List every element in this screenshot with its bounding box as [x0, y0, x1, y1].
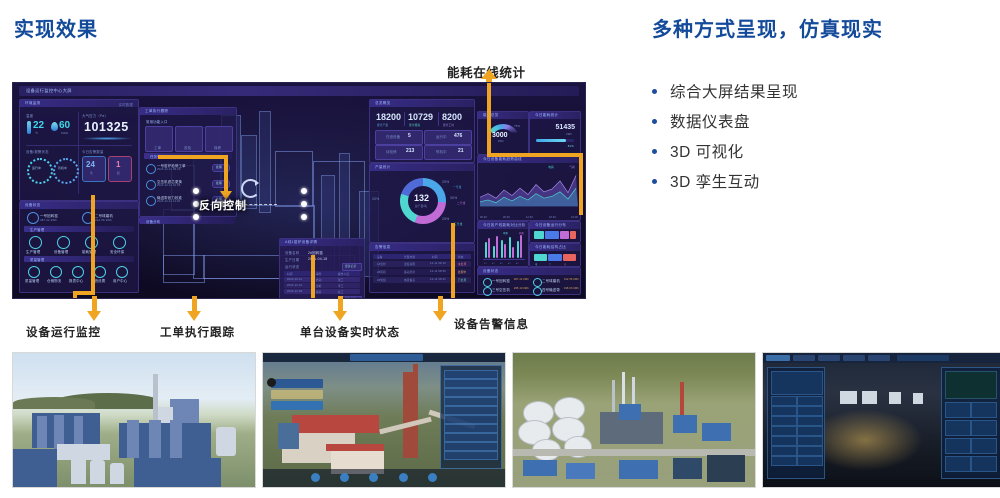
- photo4-map: [945, 371, 997, 399]
- panel-kpi: 总览概览 18200 累计产量 10729 累计能耗 8200 累计工时 在役设…: [369, 99, 475, 163]
- panel-device-list: 设备状态 一号回转窑 487.22 kWh 二号球磨机 312.56 kWh 三…: [477, 267, 581, 295]
- photo2-panel-row: [444, 424, 498, 433]
- device-value: 312.56 kWh: [564, 278, 579, 281]
- module-icon: [57, 236, 70, 249]
- panel-header: 今日设备能耗趋势曲线: [478, 156, 580, 163]
- photo4-card: [797, 396, 823, 406]
- callout-stem: [438, 296, 443, 312]
- x-tick: 12:00: [526, 216, 533, 219]
- slide-root: 实现效果 多种方式呈现，仿真现实 综合大屏结果呈现 数据仪表盘 3D 可视化 3…: [0, 0, 1000, 498]
- alarm-count-a-value: 24: [86, 160, 95, 169]
- photo2-unit: [278, 423, 300, 450]
- dashboard-title: 设备运行监控中心大屏: [26, 88, 72, 94]
- page-title-right: 多种方式呈现，仿真现实: [652, 13, 883, 42]
- panel-header: 设备状态: [478, 268, 580, 275]
- quick-tile-label: 巡检: [184, 145, 191, 150]
- panel-header: 能耗总览: [478, 112, 528, 119]
- bar: [509, 237, 511, 258]
- connector-energy-h: [487, 153, 583, 157]
- photo3-unit: [523, 460, 557, 476]
- section-title: 质量管理: [30, 257, 44, 262]
- gauge-value: 3000: [492, 132, 508, 139]
- popup-row-key: 生产日期: [285, 257, 299, 262]
- connector-workorder-v: [224, 155, 228, 193]
- alarm-head-cell: 告警内容: [404, 255, 415, 259]
- device-value: 487.22 kWh: [514, 278, 529, 281]
- callout-arrow-icon: [87, 311, 101, 321]
- x-tick: 1#: [484, 263, 487, 265]
- alarm-head-cell: 设备: [377, 255, 383, 259]
- gauge-unit: kWh: [498, 140, 504, 143]
- module-icon: [113, 236, 126, 249]
- photo1-silo: [110, 463, 125, 484]
- photo2-panel-row: [444, 388, 498, 397]
- selection-node[interactable]: [301, 188, 307, 194]
- temp-label: 温度: [26, 113, 33, 118]
- callout-stem: [92, 296, 97, 312]
- callout-arrow-icon: [433, 311, 447, 321]
- panel-header: 今日各产线能耗对比分析: [478, 222, 528, 229]
- legend-item: 气耗: [569, 165, 575, 169]
- panel-header: 今日能耗统计: [530, 112, 580, 119]
- table-cell: 2023-12-11: [287, 278, 302, 281]
- kpi-tile-value: 21: [458, 148, 464, 154]
- bullet-dot-icon: [652, 149, 657, 154]
- device-name: 四号输送带: [542, 287, 560, 292]
- dashboard-screenshot: 设备运行监控中心大屏 环境监测 实时数据 温度 大气压力（: [12, 82, 586, 299]
- donut-slice-pct: 25%: [442, 217, 449, 221]
- photo4-window: [889, 392, 901, 404]
- connector-workorder-h: [158, 155, 228, 159]
- panel-title: 总览概览: [375, 101, 391, 106]
- panel-title: A线1窑炉设备详情: [285, 240, 317, 245]
- humidity-icon: [51, 122, 58, 131]
- module-label: 报表中心: [69, 278, 83, 283]
- x-tick: 4#: [508, 263, 511, 265]
- panel-title: 今日设备能耗趋势曲线: [483, 157, 522, 162]
- task-icon: [146, 164, 156, 174]
- device-name: 一号回转窑: [492, 278, 510, 283]
- photo-night-interior-ui[interactable]: [762, 352, 1000, 488]
- x-tick: 5#: [516, 263, 519, 265]
- task-time: 2023-12-11 09:20: [157, 168, 181, 171]
- list-item: 数据仪表盘: [652, 106, 982, 136]
- callout-label: 设备告警信息: [454, 316, 529, 332]
- connector-alarm-v: [451, 223, 455, 299]
- donut-slice-label: 二号线: [457, 201, 465, 205]
- device-status-icon: [483, 278, 492, 287]
- module-icon: [50, 266, 62, 278]
- photo4-window: [862, 391, 877, 404]
- panel-modules: 设备状态 一号回转窑 487.22 kWh 二号球磨机 312.56 kWh 生…: [19, 201, 139, 293]
- photo3-unit: [619, 404, 641, 420]
- photo-refinery-aerial[interactable]: [512, 352, 756, 488]
- table-cell: 赵工: [338, 290, 344, 294]
- photo4-tab[interactable]: [843, 355, 865, 361]
- module-icon: [28, 266, 40, 278]
- panel-stack-b: 今日能耗结构占比 电 气 水: [529, 243, 581, 267]
- temp-unit: ℃: [35, 131, 38, 135]
- table-cell: 李工: [338, 284, 344, 288]
- bar: [493, 246, 495, 258]
- module-icon: [29, 236, 42, 249]
- device-value: 312.56 kWh: [95, 218, 112, 222]
- connector-device-v1: [311, 255, 315, 299]
- device-status-icon: [533, 287, 542, 296]
- callout-arrow-icon: [187, 311, 201, 321]
- page-title-left: 实现效果: [14, 13, 98, 42]
- panel-title: 环境监测: [25, 101, 41, 106]
- device-status-icon: [483, 287, 492, 296]
- humidity-value: 60: [59, 120, 70, 131]
- alarm-head-cell: 状态: [458, 255, 464, 259]
- legend-item: 电耗: [548, 165, 554, 169]
- module-icon: [116, 266, 128, 278]
- photo2-nav-icon[interactable]: [399, 473, 408, 482]
- alarm-count-label: 今日告警数量: [82, 149, 104, 154]
- popup-more-label: 更多记录: [345, 264, 356, 268]
- alarm-cell-status: 已处理: [458, 278, 466, 282]
- module-label: 生产管理: [26, 249, 40, 254]
- donut-slice-label: 三号线: [454, 222, 462, 226]
- module-icon: [94, 266, 106, 278]
- photo4-card: [797, 456, 823, 466]
- kpi-value: 18200: [376, 112, 401, 122]
- list-item: 综合大屏结果呈现: [652, 76, 982, 106]
- photo4-right-panel: [941, 367, 1000, 479]
- photo4-thumb[interactable]: [971, 420, 997, 436]
- callout-device-alarm: 设备告警信息: [420, 296, 620, 336]
- alarm-count-b-value: 1: [116, 160, 120, 169]
- quick-tile-label: 工单: [154, 145, 161, 150]
- photo4-card: [771, 416, 797, 426]
- table-cell: 保养: [316, 290, 322, 294]
- photo4-thumb[interactable]: [945, 456, 971, 472]
- table-cell: 启动: [316, 278, 322, 282]
- photo3-unit: [619, 460, 658, 479]
- photo2-bottom-bar: [263, 469, 505, 487]
- photo3-unit: [707, 455, 746, 482]
- photo2-panel-row: [444, 415, 498, 424]
- device-icon: [27, 212, 39, 224]
- panel-title: 产量统计: [375, 165, 391, 170]
- alarm-cell: 12-11 08:50: [430, 270, 446, 273]
- donut-slice-pct: 30%: [450, 196, 457, 200]
- photo4-card: [797, 426, 823, 436]
- x-tick: 00:00: [480, 216, 487, 219]
- photo4-card: [771, 396, 797, 406]
- kpi-tile-label: 在役设备: [386, 134, 400, 139]
- panel-header: 设备状态: [20, 202, 138, 209]
- photo4-card: [797, 446, 823, 456]
- bar: [496, 236, 498, 258]
- kpi-tile-label: 待检修: [386, 149, 397, 154]
- photo1-silo: [71, 458, 86, 485]
- task-time: 2023-12-11 10:05: [157, 184, 181, 187]
- photo4-card: [797, 406, 823, 416]
- photo2-panel-row: [444, 379, 498, 388]
- panel-progress: 今日能耗统计 51435 kWh 81%: [529, 111, 581, 155]
- photo4-card: [771, 406, 797, 416]
- module-label: 仓储物流: [47, 278, 61, 283]
- alarm-cell: 电流偏高: [404, 278, 415, 282]
- photo4-window: [913, 393, 923, 404]
- legend-item: 水: [564, 262, 566, 266]
- callout-label: 单台设备实时状态: [300, 324, 400, 340]
- device-value: 198.03 kWh: [564, 287, 579, 290]
- kpi-divider: [404, 112, 405, 126]
- stack-block: [548, 254, 562, 261]
- photo4-thumb[interactable]: [971, 456, 997, 472]
- gauge-pct: 75%: [514, 124, 520, 128]
- kpi-tile-value: 213: [406, 148, 414, 154]
- panel-header: A线1窑炉设备详情: [280, 239, 364, 246]
- refresh-icon[interactable]: [241, 179, 260, 198]
- progress-unit: kWh: [566, 133, 572, 136]
- panel-subtitle: 实时数据: [119, 102, 133, 107]
- table-cell: 2023-12-10: [287, 284, 302, 287]
- list-item-label: 综合大屏结果呈现: [670, 80, 798, 102]
- bullet-dot-icon: [652, 89, 657, 94]
- device-name: 二号球磨机: [542, 278, 560, 283]
- bullet-dot-icon: [652, 179, 657, 184]
- photo1-unit: [149, 420, 161, 458]
- alarm-cell: 12-11 09:12: [430, 262, 446, 265]
- photo-plant-render[interactable]: [12, 352, 256, 488]
- photo1-unit: [134, 458, 221, 487]
- panel-environment: 环境监测 实时数据 温度 大气压力（Pa） 22 ℃ 60 %RH 101325…: [19, 99, 139, 201]
- callout-stem: [192, 296, 197, 312]
- panel-title: 设备状态: [25, 203, 41, 208]
- task-action-label: 处理: [216, 181, 222, 185]
- panel-title: 今日各产线能耗对比分析: [483, 223, 526, 228]
- alarm-cell: 振动异常: [404, 270, 415, 274]
- panel-model-popup: A线1窑炉设备详情 设备名称 2#回转窑 生产日期 2021-04-18 运行状…: [279, 238, 365, 299]
- panel-title: 设备状态: [483, 269, 499, 274]
- connector-energy-v2: [579, 153, 583, 215]
- photo4-title-tab: [897, 355, 949, 361]
- list-item-label: 3D 孪生互动: [670, 170, 760, 192]
- alarm-cell: 2#风机: [377, 270, 386, 274]
- photo4-thumb[interactable]: [945, 420, 971, 436]
- photo2-panel-row: [444, 442, 498, 451]
- table-row: [373, 277, 471, 283]
- panel-divider: [26, 145, 132, 146]
- photo3-unit: [673, 458, 702, 479]
- photo1-hill-2: [13, 397, 95, 409]
- task-action-label: 处理: [216, 165, 222, 169]
- photo2-building: [292, 415, 379, 434]
- alarm-count-a-unit: 条: [90, 171, 93, 175]
- photo2-tower: [413, 364, 418, 458]
- table-head: [373, 254, 471, 259]
- stack-block: [534, 231, 544, 239]
- panel-donut: 产量统计 132 总产量/吨 25% 一号线 30% 二号线 25% 三号线 2…: [369, 163, 475, 243]
- feature-list: 综合大屏结果呈现 数据仪表盘 3D 可视化 3D 孪生互动: [652, 76, 982, 196]
- bar: [485, 242, 487, 258]
- table-row: [373, 269, 471, 275]
- photo4-tab[interactable]: [868, 355, 890, 361]
- task-time: 2023-12-11 11:40: [157, 200, 180, 203]
- panel-alarm-table: 告警信息 设备 告警内容 时间 状态 1#窑炉 温度超限 12-11 09:12…: [369, 243, 475, 293]
- photo2-panel-row: [444, 406, 498, 415]
- x-tick: 06:00: [503, 216, 510, 219]
- x-tick: 24:00: [571, 216, 578, 219]
- progress-value: 51435: [556, 124, 575, 131]
- kpi-label: 累计产量: [377, 123, 388, 127]
- ring-running-icon: [27, 158, 53, 184]
- pressure-value: 101325: [84, 120, 129, 134]
- device-status-icon: [533, 278, 542, 287]
- x-tick: 2#: [492, 263, 495, 265]
- alarm-cell-status: 处理中: [458, 270, 466, 274]
- photo4-thumb[interactable]: [971, 438, 997, 454]
- photo2-tab[interactable]: [350, 354, 423, 361]
- photo3-flare: [680, 382, 684, 417]
- kpi-label: 累计能耗: [409, 123, 420, 127]
- donut-center-label: 总产量/吨: [415, 204, 427, 208]
- callout-label: 工单执行跟踪: [160, 324, 235, 340]
- kpi-tile: [424, 130, 472, 145]
- task-icon: [146, 196, 156, 206]
- connector-energy-v1: [487, 83, 491, 157]
- table-cell: 2023-12-09: [287, 290, 302, 293]
- table-head-cell: 事件: [316, 272, 322, 276]
- dashboard-title-bar: 设备运行监控中心大屏: [19, 86, 579, 96]
- kpi-tile-value: 476: [454, 133, 462, 139]
- photo2-building: [326, 444, 384, 451]
- module-icon: [72, 266, 84, 278]
- panel-header: 总览概览: [370, 100, 474, 107]
- bar: [501, 240, 503, 258]
- task-icon: [146, 180, 156, 190]
- kpi-tile: [375, 145, 423, 160]
- bar: [504, 244, 506, 258]
- kpi-value: 10729: [408, 112, 433, 122]
- selection-node[interactable]: [193, 188, 199, 194]
- photo4-card: [771, 436, 797, 446]
- module-label: 质量管理: [25, 278, 39, 283]
- stack-block: [560, 231, 569, 239]
- photo4-card: [771, 426, 797, 436]
- bullet-dot-icon: [652, 119, 657, 124]
- connector-env-v: [91, 195, 95, 295]
- device-name: 三号空压机: [492, 287, 510, 292]
- photo4-thumb[interactable]: [945, 402, 971, 418]
- area-chart-svg: [478, 170, 580, 210]
- photo1-unit: [13, 449, 57, 487]
- temp-value: 22: [33, 120, 44, 131]
- ring-standby-label: 待机中: [58, 166, 67, 170]
- panel-stack-a: 今日设备运行分布: [529, 221, 581, 243]
- photo1-unit: [170, 420, 182, 458]
- photo4-window: [840, 391, 857, 404]
- photo2-panel-row: [444, 433, 498, 442]
- photo4-card: [797, 416, 823, 426]
- photo2-left-card[interactable]: [271, 401, 323, 410]
- pressure-underline: [83, 137, 131, 140]
- donut-slice-pct: 25%: [442, 180, 449, 184]
- list-item: 3D 孪生互动: [652, 166, 982, 196]
- panel-header: 产量统计: [370, 164, 474, 171]
- kpi-tile-label: 运行中: [436, 134, 447, 139]
- donut-center-value: 132: [414, 193, 429, 203]
- photo4-tab[interactable]: [793, 355, 815, 361]
- donut-slice-pct: 20%: [372, 197, 379, 201]
- photo2-panel-row: [444, 397, 498, 406]
- kpi-value: 8200: [442, 112, 462, 122]
- alarm-count-b-unit: 起: [117, 171, 120, 175]
- alarm-cell: 3#泵组: [377, 278, 386, 282]
- photo2-nav-icon[interactable]: [428, 473, 437, 482]
- photo-gallery: [12, 352, 1000, 488]
- kpi-divider: [438, 112, 439, 126]
- photo4-left-panel: [767, 367, 825, 479]
- panel-title: 告警信息: [375, 245, 391, 250]
- alarm-cell: 1#窑炉: [377, 262, 386, 266]
- kpi-tile: [424, 145, 472, 160]
- selection-node[interactable]: [301, 201, 307, 207]
- photo2-marker-icon[interactable]: [267, 378, 276, 387]
- photo4-card: [771, 371, 823, 395]
- donut-slice-label: 一号线: [453, 185, 461, 189]
- callout-label: 设备运行监控: [26, 324, 101, 340]
- callout-arrow-icon: [333, 311, 347, 321]
- list-item-label: 3D 可视化: [670, 140, 744, 162]
- photo4-tab[interactable]: [818, 355, 840, 361]
- panel-header: 今日设备运行分布: [530, 222, 580, 229]
- device-value: 265.10 kWh: [514, 287, 529, 290]
- panel-header: 告警信息: [370, 244, 474, 251]
- photo2-side-panel: [440, 365, 502, 469]
- panel-title: 工单执行跟踪: [145, 109, 168, 114]
- alarm-cell-status: 未处理: [458, 262, 466, 266]
- photo4-card: [797, 436, 823, 446]
- panel-title: 今日能耗结构占比: [535, 245, 566, 250]
- panel-area-chart: 今日设备能耗趋势曲线 电耗 气耗 00:00 06:00 12:00 18:00…: [477, 155, 581, 221]
- status-label: 设备/报警状态: [26, 149, 49, 154]
- photo4-tab[interactable]: [766, 355, 790, 361]
- bar: [520, 235, 522, 258]
- photo4-card: [771, 446, 797, 456]
- table-head-cell: 时间: [287, 272, 293, 276]
- photo4-thumb[interactable]: [971, 402, 997, 418]
- table-row: [373, 261, 471, 267]
- stack-block: [545, 231, 559, 239]
- legend-item: 气: [549, 262, 551, 266]
- pressure-label: 大气压力（Pa）: [82, 113, 108, 118]
- photo-digital-twin-ui[interactable]: [262, 352, 506, 488]
- kpi-tile-label: 停机中: [436, 149, 447, 154]
- panel-title: 今日设备运行分布: [535, 223, 566, 228]
- panel-gauge: 能耗总览 3000 kWh 75%: [477, 111, 529, 155]
- stack-block: [570, 231, 576, 239]
- stack-block: [534, 254, 547, 261]
- popup-row-key: 运行状态: [285, 264, 299, 269]
- overlay-label-reverse-control: 反向控制: [199, 197, 247, 213]
- quick-section-title: 常用功能入口: [146, 119, 168, 124]
- selection-node[interactable]: [301, 214, 307, 220]
- photo4-thumb[interactable]: [945, 438, 971, 454]
- photo1-unit: [127, 420, 139, 458]
- alarm-head-cell: 时间: [432, 255, 438, 259]
- photo2-left-card[interactable]: [271, 390, 323, 399]
- list-item-label: 数据仪表盘: [670, 110, 750, 132]
- kpi-label: 累计工时: [443, 123, 454, 127]
- device-value: 487.22 kWh: [40, 218, 57, 222]
- selection-node[interactable]: [193, 214, 199, 220]
- photo2-left-card[interactable]: [271, 379, 323, 388]
